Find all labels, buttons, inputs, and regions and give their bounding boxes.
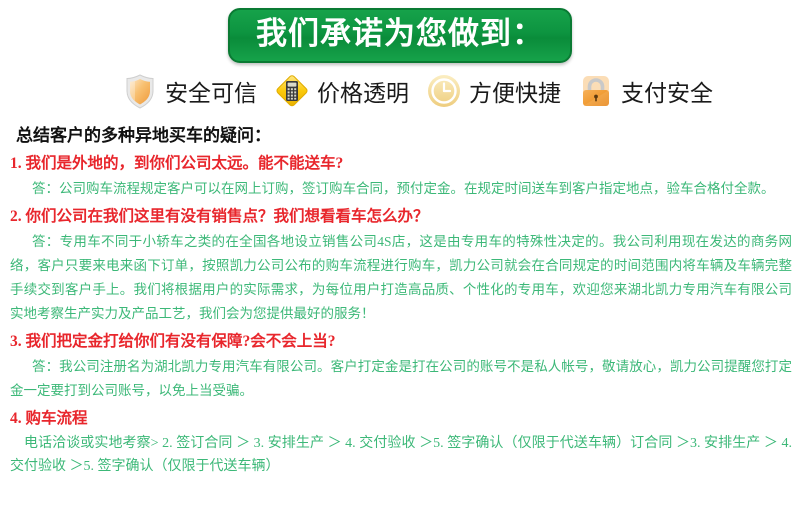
banner-section: 我们承诺为您做到： xyxy=(0,0,800,62)
faq-question-3: 3. 我们把定金打给你们有没有保障?会不会上当? xyxy=(10,330,792,353)
calculator-icon xyxy=(272,71,312,111)
page-title: 总结客户的多种异地买车的疑问： xyxy=(16,124,792,148)
feature-item-payment: 支付安全 xyxy=(576,71,722,111)
purchase-flow-text: 电话洽谈或实地考察> 2. 签订合同 ＞ 3. 安排生产 ＞ 4. 交付验收 ＞… xyxy=(10,432,792,478)
feature-label-safety: 安全可信 xyxy=(165,74,257,108)
faq-answer-1: 答：公司购车流程规定客户可以在网上订购，签订购车合同，预付定金。在规定时间送车到… xyxy=(10,177,792,201)
promise-banner: 我们承诺为您做到： xyxy=(228,8,572,63)
faq-question-2: 2. 你们公司在我们这里有没有销售点？我们想看看车怎么办？ xyxy=(10,205,792,228)
feature-row: 安全可信 xyxy=(0,62,800,120)
feature-item-price: 价格透明 xyxy=(272,71,418,111)
banner-title: 我们承诺为您做到： xyxy=(256,14,544,54)
feature-item-safety: 安全可信 xyxy=(120,71,266,111)
lock-icon xyxy=(576,71,616,111)
purchase-flow-title: 4. 购车流程 xyxy=(10,407,792,430)
feature-label-payment: 支付安全 xyxy=(621,74,713,108)
feature-item-convenient: 方便快捷 xyxy=(424,71,570,111)
faq-content: 总结客户的多种异地买车的疑问： 1. 我们是外地的，到你们公司太远。能不能送车?… xyxy=(0,120,800,478)
feature-label-convenient: 方便快捷 xyxy=(469,74,561,108)
faq-question-1: 1. 我们是外地的，到你们公司太远。能不能送车? xyxy=(10,152,792,175)
faq-answer-2: 答：专用车不同于小轿车之类的在全国各地设立销售公司4S店，这是由专用车的特殊性决… xyxy=(10,230,792,326)
faq-answer-3: 答：我公司注册名为湖北凯力专用汽车有限公司。客户打定金是打在公司的账号不是私人帐… xyxy=(10,355,792,403)
clock-icon xyxy=(424,71,464,111)
shield-icon xyxy=(120,71,160,111)
feature-label-price: 价格透明 xyxy=(317,74,409,108)
